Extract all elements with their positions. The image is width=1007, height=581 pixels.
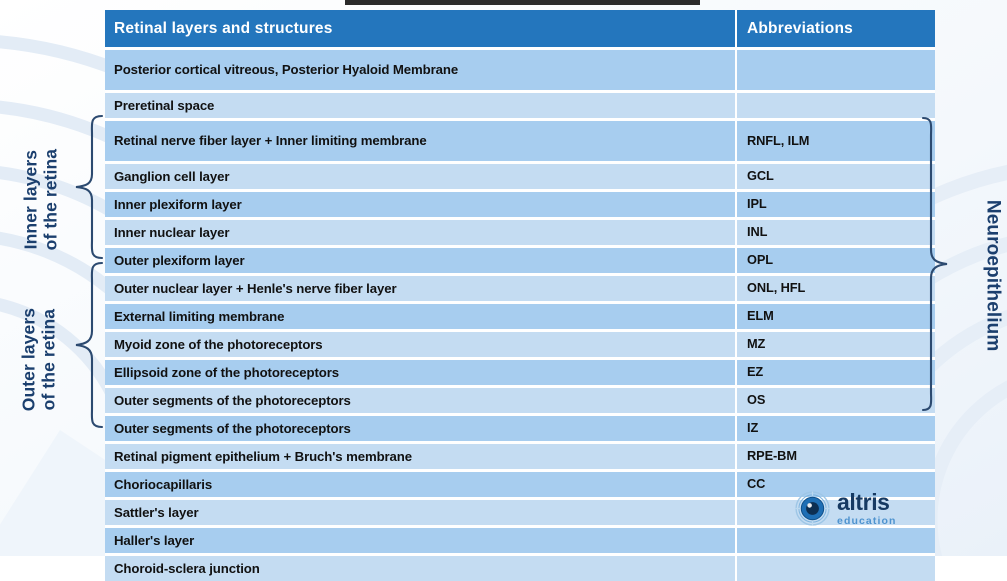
cell-layer-name: Outer plexiform layer bbox=[105, 248, 735, 273]
abbreviation-text: IPL bbox=[747, 197, 767, 212]
table-row[interactable]: Retinal pigment epithelium + Bruch's mem… bbox=[105, 444, 935, 469]
abbreviation-text: EZ bbox=[747, 365, 763, 380]
cell-layer-name: Inner plexiform layer bbox=[105, 192, 735, 217]
cell-abbreviation: GCL bbox=[735, 164, 935, 189]
table-row[interactable]: Haller's layer bbox=[105, 528, 935, 553]
cell-layer-name: Choroid-sclera junction bbox=[105, 556, 735, 581]
layer-name-text: Outer plexiform layer bbox=[114, 253, 245, 268]
cell-abbreviation: ELM bbox=[735, 304, 935, 329]
table-row[interactable]: Myoid zone of the photoreceptorsMZ bbox=[105, 332, 935, 357]
brace-inner-layers bbox=[72, 112, 106, 262]
label-outer-layers: Outer layers of the retina bbox=[19, 280, 58, 440]
cell-abbreviation: INL bbox=[735, 220, 935, 245]
table-row[interactable]: Retinal nerve fiber layer + Inner limiti… bbox=[105, 121, 935, 161]
label-inner-layers-line2: of the retina bbox=[41, 120, 61, 280]
table-header-row: Retinal layers and structures Abbreviati… bbox=[105, 10, 935, 47]
layer-name-text: External limiting membrane bbox=[114, 309, 284, 324]
brace-outer-layers bbox=[72, 259, 106, 431]
cell-abbreviation: OPL bbox=[735, 248, 935, 273]
cell-layer-name: Choriocapillaris bbox=[105, 472, 735, 497]
cell-layer-name: Retinal pigment epithelium + Bruch's mem… bbox=[105, 444, 735, 469]
layer-name-text: Haller's layer bbox=[114, 533, 194, 548]
cell-abbreviation bbox=[735, 528, 935, 553]
layer-name-text: Choriocapillaris bbox=[114, 477, 212, 492]
table-row[interactable]: Outer segments of the photoreceptorsIZ bbox=[105, 416, 935, 441]
cell-layer-name: Outer segments of the photoreceptors bbox=[105, 416, 735, 441]
table-row[interactable]: External limiting membraneELM bbox=[105, 304, 935, 329]
abbreviation-text: INL bbox=[747, 225, 767, 240]
cell-abbreviation: MZ bbox=[735, 332, 935, 357]
label-inner-layers: Inner layers of the retina bbox=[21, 120, 60, 280]
cell-layer-name: Haller's layer bbox=[105, 528, 735, 553]
cell-layer-name: Myoid zone of the photoreceptors bbox=[105, 332, 735, 357]
cell-abbreviation: RNFL, ILM bbox=[735, 121, 935, 161]
layer-name-text: Outer segments of the photoreceptors bbox=[114, 393, 351, 408]
layer-name-text: Choroid-sclera junction bbox=[114, 561, 260, 576]
abbreviation-text: ELM bbox=[747, 309, 774, 324]
layer-name-text: Outer nuclear layer + Henle's nerve fibe… bbox=[114, 281, 396, 296]
logo-wordmark: altris bbox=[837, 491, 897, 514]
logo-subtitle: education bbox=[837, 516, 897, 527]
top-accent-bar bbox=[345, 0, 700, 5]
cell-abbreviation: OS bbox=[735, 388, 935, 413]
layer-name-text: Retinal pigment epithelium + Bruch's mem… bbox=[114, 449, 412, 464]
layer-name-text: Inner nuclear layer bbox=[114, 225, 229, 240]
layer-name-text: Inner plexiform layer bbox=[114, 197, 242, 212]
cell-layer-name: Sattler's layer bbox=[105, 500, 735, 525]
cell-layer-name: Retinal nerve fiber layer + Inner limiti… bbox=[105, 121, 735, 161]
label-neuroepithelium: Neuroepithelium bbox=[982, 171, 1003, 381]
table-row[interactable]: Inner nuclear layerINL bbox=[105, 220, 935, 245]
abbreviation-text: IZ bbox=[747, 421, 758, 436]
cell-abbreviation: RPE-BM bbox=[735, 444, 935, 469]
layer-name-text: Ganglion cell layer bbox=[114, 169, 229, 184]
table-row[interactable]: Preretinal space bbox=[105, 93, 935, 118]
layer-name-text: Preretinal space bbox=[114, 98, 214, 113]
abbreviation-text: MZ bbox=[747, 337, 765, 352]
label-outer-layers-line1: Outer layers bbox=[19, 280, 39, 440]
eye-icon bbox=[795, 491, 830, 526]
table-row[interactable]: Choroid-sclera junction bbox=[105, 556, 935, 581]
abbreviation-text: RNFL, ILM bbox=[747, 134, 809, 149]
header-cell-layers: Retinal layers and structures bbox=[105, 10, 735, 47]
cell-layer-name: Inner nuclear layer bbox=[105, 220, 735, 245]
cell-abbreviation bbox=[735, 93, 935, 118]
cell-layer-name: Outer nuclear layer + Henle's nerve fibe… bbox=[105, 276, 735, 301]
cell-abbreviation: EZ bbox=[735, 360, 935, 385]
cell-abbreviation bbox=[735, 556, 935, 581]
table-row[interactable]: Ganglion cell layerGCL bbox=[105, 164, 935, 189]
table-row[interactable]: Outer plexiform layerOPL bbox=[105, 248, 935, 273]
layer-name-text: Myoid zone of the photoreceptors bbox=[114, 337, 323, 352]
cell-layer-name: Ganglion cell layer bbox=[105, 164, 735, 189]
layer-name-text: Ellipsoid zone of the photoreceptors bbox=[114, 365, 339, 380]
altris-education-logo[interactable]: altris education bbox=[795, 491, 897, 527]
layer-name-text: Retinal nerve fiber layer + Inner limiti… bbox=[114, 133, 427, 148]
cell-layer-name: External limiting membrane bbox=[105, 304, 735, 329]
cell-layer-name: Ellipsoid zone of the photoreceptors bbox=[105, 360, 735, 385]
table-row[interactable]: Inner plexiform layerIPL bbox=[105, 192, 935, 217]
abbreviation-text: ONL, HFL bbox=[747, 281, 805, 296]
table-row[interactable]: Outer segments of the photoreceptorsOS bbox=[105, 388, 935, 413]
cell-abbreviation: ONL, HFL bbox=[735, 276, 935, 301]
label-inner-layers-line1: Inner layers bbox=[21, 120, 41, 280]
cell-abbreviation bbox=[735, 50, 935, 90]
label-outer-layers-line2: of the retina bbox=[39, 280, 59, 440]
layer-name-text: Outer segments of the photoreceptors bbox=[114, 421, 351, 436]
header-cell-abbreviations: Abbreviations bbox=[735, 10, 935, 47]
table-row[interactable]: Outer nuclear layer + Henle's nerve fibe… bbox=[105, 276, 935, 301]
cell-abbreviation: IZ bbox=[735, 416, 935, 441]
table-row[interactable]: Ellipsoid zone of the photoreceptorsEZ bbox=[105, 360, 935, 385]
cell-abbreviation: IPL bbox=[735, 192, 935, 217]
abbreviation-text: GCL bbox=[747, 169, 774, 184]
cell-layer-name: Outer segments of the photoreceptors bbox=[105, 388, 735, 413]
abbreviation-text: CC bbox=[747, 477, 765, 492]
layer-name-text: Sattler's layer bbox=[114, 505, 198, 520]
cell-layer-name: Preretinal space bbox=[105, 93, 735, 118]
cell-layer-name: Posterior cortical vitreous, Posterior H… bbox=[105, 50, 735, 90]
abbreviation-text: RPE-BM bbox=[747, 449, 797, 464]
abbreviation-text: OS bbox=[747, 393, 765, 408]
abbreviation-text: OPL bbox=[747, 253, 773, 268]
table-row[interactable]: Posterior cortical vitreous, Posterior H… bbox=[105, 50, 935, 90]
layer-name-text: Posterior cortical vitreous, Posterior H… bbox=[114, 62, 458, 77]
